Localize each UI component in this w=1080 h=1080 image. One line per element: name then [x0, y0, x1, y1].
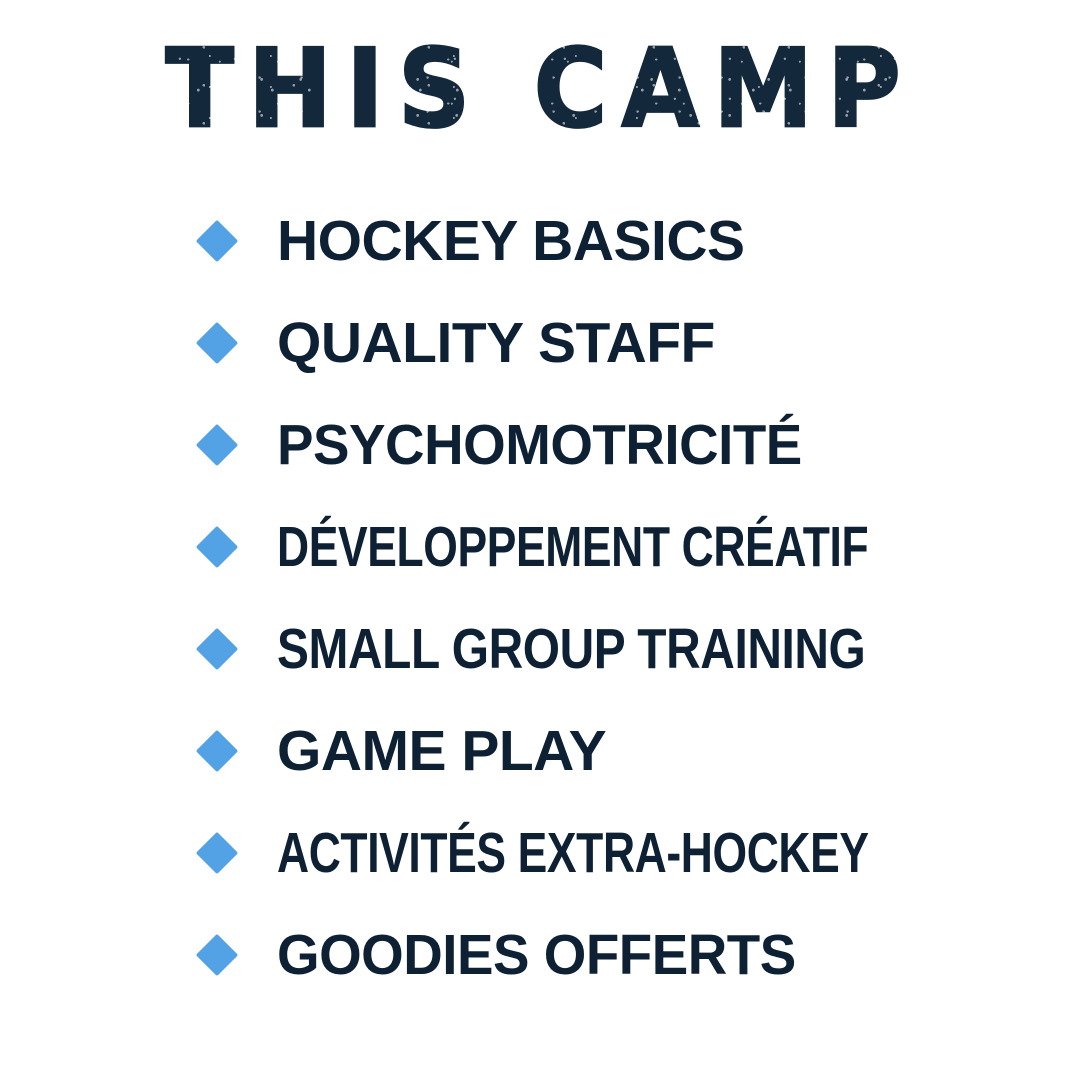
list-item: GAME PLAY	[0, 700, 1080, 802]
diamond-bullet-icon	[196, 526, 238, 568]
list-item: ACTIVITÉS EXTRA-HOCKEY	[0, 802, 1080, 904]
list-item: QUALITY STAFF	[0, 292, 1080, 394]
features-list: HOCKEY BASICS QUALITY STAFF PSYCHOMOTRIC…	[0, 190, 1080, 1006]
list-item: GOODIES OFFERTS	[0, 904, 1080, 1006]
feature-label: ACTIVITÉS EXTRA-HOCKEY	[277, 824, 869, 882]
feature-label: SMALL GROUP TRAINING	[277, 620, 865, 678]
feature-label: QUALITY STAFF	[277, 314, 715, 372]
diamond-bullet-icon	[196, 832, 238, 874]
feature-label: PSYCHOMOTRICITÉ	[277, 416, 802, 474]
feature-label: GOODIES OFFERTS	[277, 926, 796, 984]
poster-title-container: THIS CAMP	[0, 34, 1080, 164]
list-item: HOCKEY BASICS	[0, 190, 1080, 292]
diamond-bullet-icon	[196, 730, 238, 772]
feature-label: HOCKEY BASICS	[277, 212, 745, 270]
feature-label: GAME PLAY	[277, 722, 606, 780]
diamond-bullet-icon	[196, 220, 238, 262]
feature-label: DÉVELOPPEMENT CRÉATIF	[277, 518, 868, 576]
diamond-bullet-icon	[196, 322, 238, 364]
list-item: SMALL GROUP TRAINING	[0, 598, 1080, 700]
diamond-bullet-icon	[196, 934, 238, 976]
list-item: DÉVELOPPEMENT CRÉATIF	[0, 496, 1080, 598]
list-item: PSYCHOMOTRICITÉ	[0, 394, 1080, 496]
page-title: THIS CAMP	[165, 27, 915, 150]
diamond-bullet-icon	[196, 424, 238, 466]
diamond-bullet-icon	[196, 628, 238, 670]
camp-features-poster: THIS CAMP HOCKEY BASICS QUALITY STAFF PS…	[0, 0, 1080, 1080]
